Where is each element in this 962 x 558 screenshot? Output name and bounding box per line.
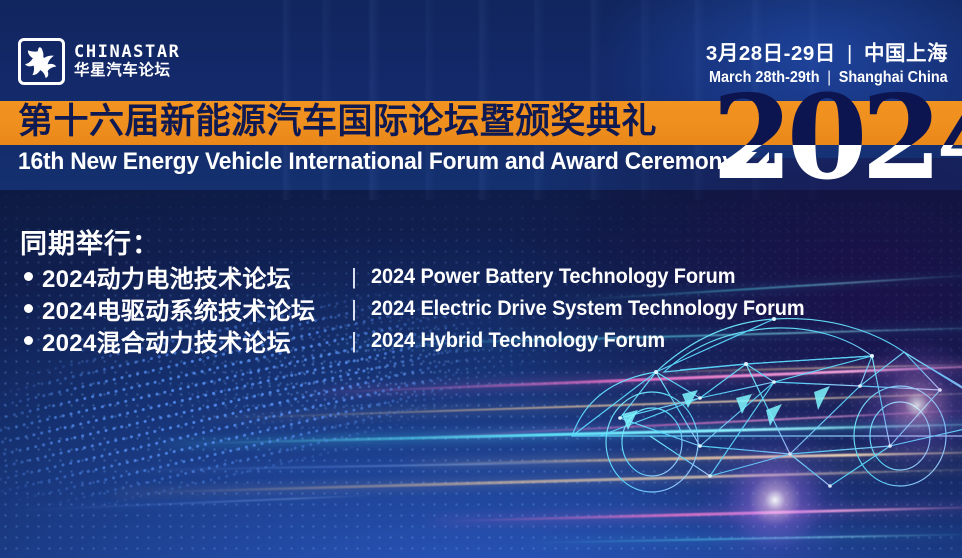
event-year: 2024 2024 (712, 86, 962, 191)
forum-name-cn: 2024电驱动系统技术论坛 (42, 291, 337, 326)
bullet-icon (24, 304, 33, 313)
divider-cn: | (842, 42, 858, 65)
forum-name-en: 2024 Hybrid Technology Forum (371, 329, 665, 353)
concurrent-forum-list: 2024动力电池技术论坛 | 2024 Power Battery Techno… (24, 262, 827, 358)
forum-separator: | (337, 264, 371, 290)
location-en-text: Shanghai China (839, 69, 948, 86)
forum-separator: | (337, 328, 371, 354)
location-cn-text: 中国上海 (864, 42, 948, 65)
concurrent-heading: 同期举行： (20, 222, 160, 261)
chinastar-star-logo-icon (18, 38, 65, 85)
forum-name-en: 2024 Power Battery Technology Forum (371, 265, 735, 289)
divider-en: | (824, 69, 835, 86)
list-item: 2024混合动力技术论坛 | 2024 Hybrid Technology Fo… (24, 326, 827, 355)
forum-name-en: 2024 Electric Drive System Technology Fo… (371, 297, 805, 321)
brand-name-cn: 华星汽车论坛 (74, 63, 181, 79)
event-date-location: 3月28日-29日 | 中国上海 March 28th-29th | Shang… (691, 42, 948, 88)
date-en-text: March 28th-29th (709, 69, 820, 86)
brand-logo: CHINASTAR 华星汽车论坛 (18, 38, 181, 85)
brand-name-en: CHINASTAR (74, 44, 181, 61)
date-cn-text: 3月28日-29日 (706, 42, 836, 65)
forum-name-cn: 2024动力电池技术论坛 (42, 259, 337, 294)
page-title-cn: 第十六届新能源汽车国际论坛暨颁奖典礼 (18, 99, 657, 145)
date-location-en: March 28th-29th | Shanghai China (709, 68, 948, 87)
secondary-flare (842, 330, 962, 480)
page-title-en: 16th New Energy Vehicle International Fo… (18, 146, 735, 178)
event-banner: CHINASTAR 华星汽车论坛 3月28日-29日 | 中国上海 March … (0, 0, 962, 558)
date-location-cn: 3月28日-29日 | 中国上海 (691, 42, 948, 66)
brand-wordmark: CHINASTAR 华星汽车论坛 (74, 44, 181, 79)
forum-name-cn: 2024混合动力技术论坛 (42, 323, 337, 358)
bullet-icon (24, 336, 33, 345)
list-item: 2024电驱动系统技术论坛 | 2024 Electric Drive Syst… (24, 294, 827, 323)
star-flower-glyph (25, 45, 58, 78)
list-item: 2024动力电池技术论坛 | 2024 Power Battery Techno… (24, 262, 827, 291)
bullet-icon (24, 272, 33, 281)
forum-separator: | (337, 296, 371, 322)
